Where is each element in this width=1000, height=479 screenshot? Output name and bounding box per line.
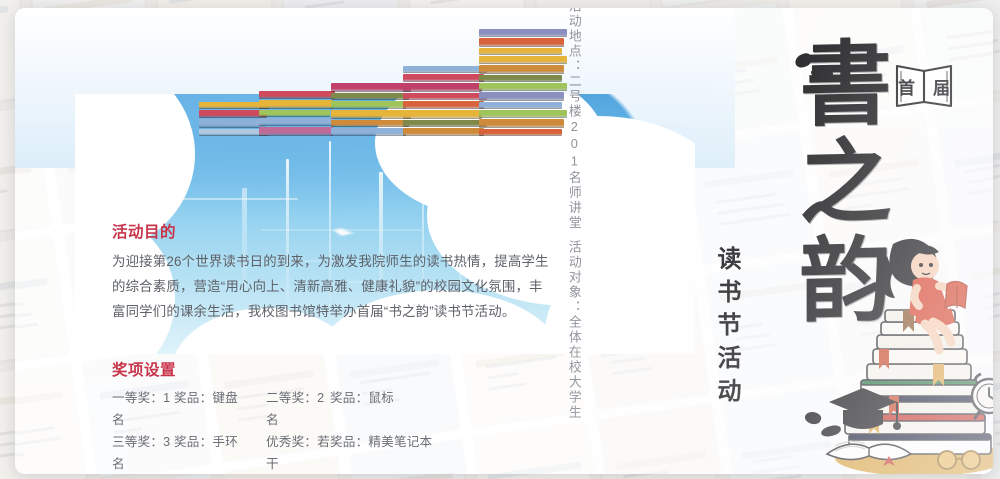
award-cell-prize_label: 奖品：手环 (174, 431, 266, 474)
event-details-vertical: 活动对象：全体在校大学生活动地点：二号楼201名师讲堂活动时间：2021年4月2… (567, 120, 580, 420)
purpose-section: 活动目的 为迎接第26个世界读书日的到来，为激发我院师生的读书热情，提高学生的综… (112, 220, 552, 324)
book-stack-illustration (845, 310, 991, 454)
book-spine (479, 38, 564, 47)
book-spine (331, 101, 406, 109)
girl-reading-illustration (821, 230, 993, 474)
book-spine (331, 83, 411, 92)
stacked-books-staircase (243, 8, 603, 136)
seal-char-1: 首 (898, 74, 915, 99)
book-spine (403, 110, 482, 119)
book-spine (403, 93, 487, 100)
award-cell-prize_label: 奖品：键盘 (174, 387, 266, 431)
book-spine (403, 74, 484, 82)
book-spine (331, 128, 406, 136)
purpose-body: 为迎接第26个世界读书日的到来，为激发我院师生的读书热情，提高学生的综合素质，营… (112, 249, 552, 324)
purpose-heading: 活动目的 (112, 220, 552, 242)
book-spine (403, 83, 482, 92)
book-spine (479, 56, 567, 64)
awards-section: 奖项设置 一等奖：1名奖品：键盘二等奖：2名奖品：鼠标三等奖：3名奖品：手环优秀… (112, 358, 542, 474)
book-spine (199, 119, 265, 128)
award-cell-prize_label2: 奖品：精美笔记本 (330, 431, 432, 474)
book-spine (259, 91, 335, 99)
book-spine (479, 102, 562, 109)
award-cell-rank: 三等奖：3名 (112, 431, 174, 474)
book-spine (479, 92, 564, 101)
event-detail-line: 活动地点：二号楼201名师讲堂 (567, 8, 580, 231)
book-spine (403, 120, 487, 127)
award-cell-rank2: 二等奖：2名 (266, 387, 330, 431)
book-spine (331, 93, 409, 100)
book-spine (479, 110, 567, 118)
seal-char-2: 届 (933, 74, 950, 99)
book-stack-column (331, 82, 411, 136)
book-spine (259, 110, 330, 117)
book-spine (259, 100, 333, 109)
first-edition-seal: 首 届 (895, 58, 953, 114)
book-spine (479, 29, 567, 37)
book-spine (479, 75, 562, 82)
award-cell-prize_label2: 奖品：鼠标 (330, 387, 394, 431)
award-cell-rank2: 优秀奖：若干 (266, 431, 330, 474)
book-spine (403, 101, 484, 109)
event-detail-line: 活动对象：全体在校大学生 (567, 240, 580, 420)
wallpaper-book-cover (936, 96, 993, 229)
book-spine (403, 128, 484, 136)
poster-card: 活动目的 为迎接第26个世界读书日的到来，为激发我院师生的读书热情，提高学生的综… (15, 8, 993, 474)
book-spine (331, 110, 411, 119)
book-spine (331, 120, 409, 127)
book-spine (479, 119, 564, 128)
book-stack-column (259, 90, 335, 136)
poster-canvas: 活动目的 为迎接第26个世界读书日的到来，为激发我院师生的读书热情，提高学生的综… (0, 0, 1000, 479)
book-spine (479, 129, 562, 136)
book-spine (259, 127, 333, 136)
book-stack-column (403, 65, 487, 136)
award-row: 三等奖：3名奖品：手环优秀奖：若干奖品：精美笔记本 (112, 431, 542, 474)
book-spine (403, 66, 487, 73)
awards-heading: 奖项设置 (112, 358, 542, 380)
book-spine (479, 65, 564, 74)
book-spine (479, 83, 567, 91)
book-spine (479, 48, 562, 55)
wallpaper-book-cover (599, 404, 727, 474)
held-book-icon (945, 281, 967, 308)
seal-label: 首 届 (895, 58, 953, 114)
wallpaper-book-cover (15, 236, 69, 369)
book-spine (259, 118, 335, 126)
poster-subtitle-vertical: 读书节活动 (715, 246, 739, 411)
award-row: 一等奖：1名奖品：键盘二等奖：2名奖品：鼠标 (112, 387, 542, 431)
wallpaper-book-cover (15, 363, 87, 474)
award-cell-rank: 一等奖：1名 (112, 387, 174, 431)
book-spine (199, 110, 267, 118)
book-stack-column (479, 28, 567, 136)
